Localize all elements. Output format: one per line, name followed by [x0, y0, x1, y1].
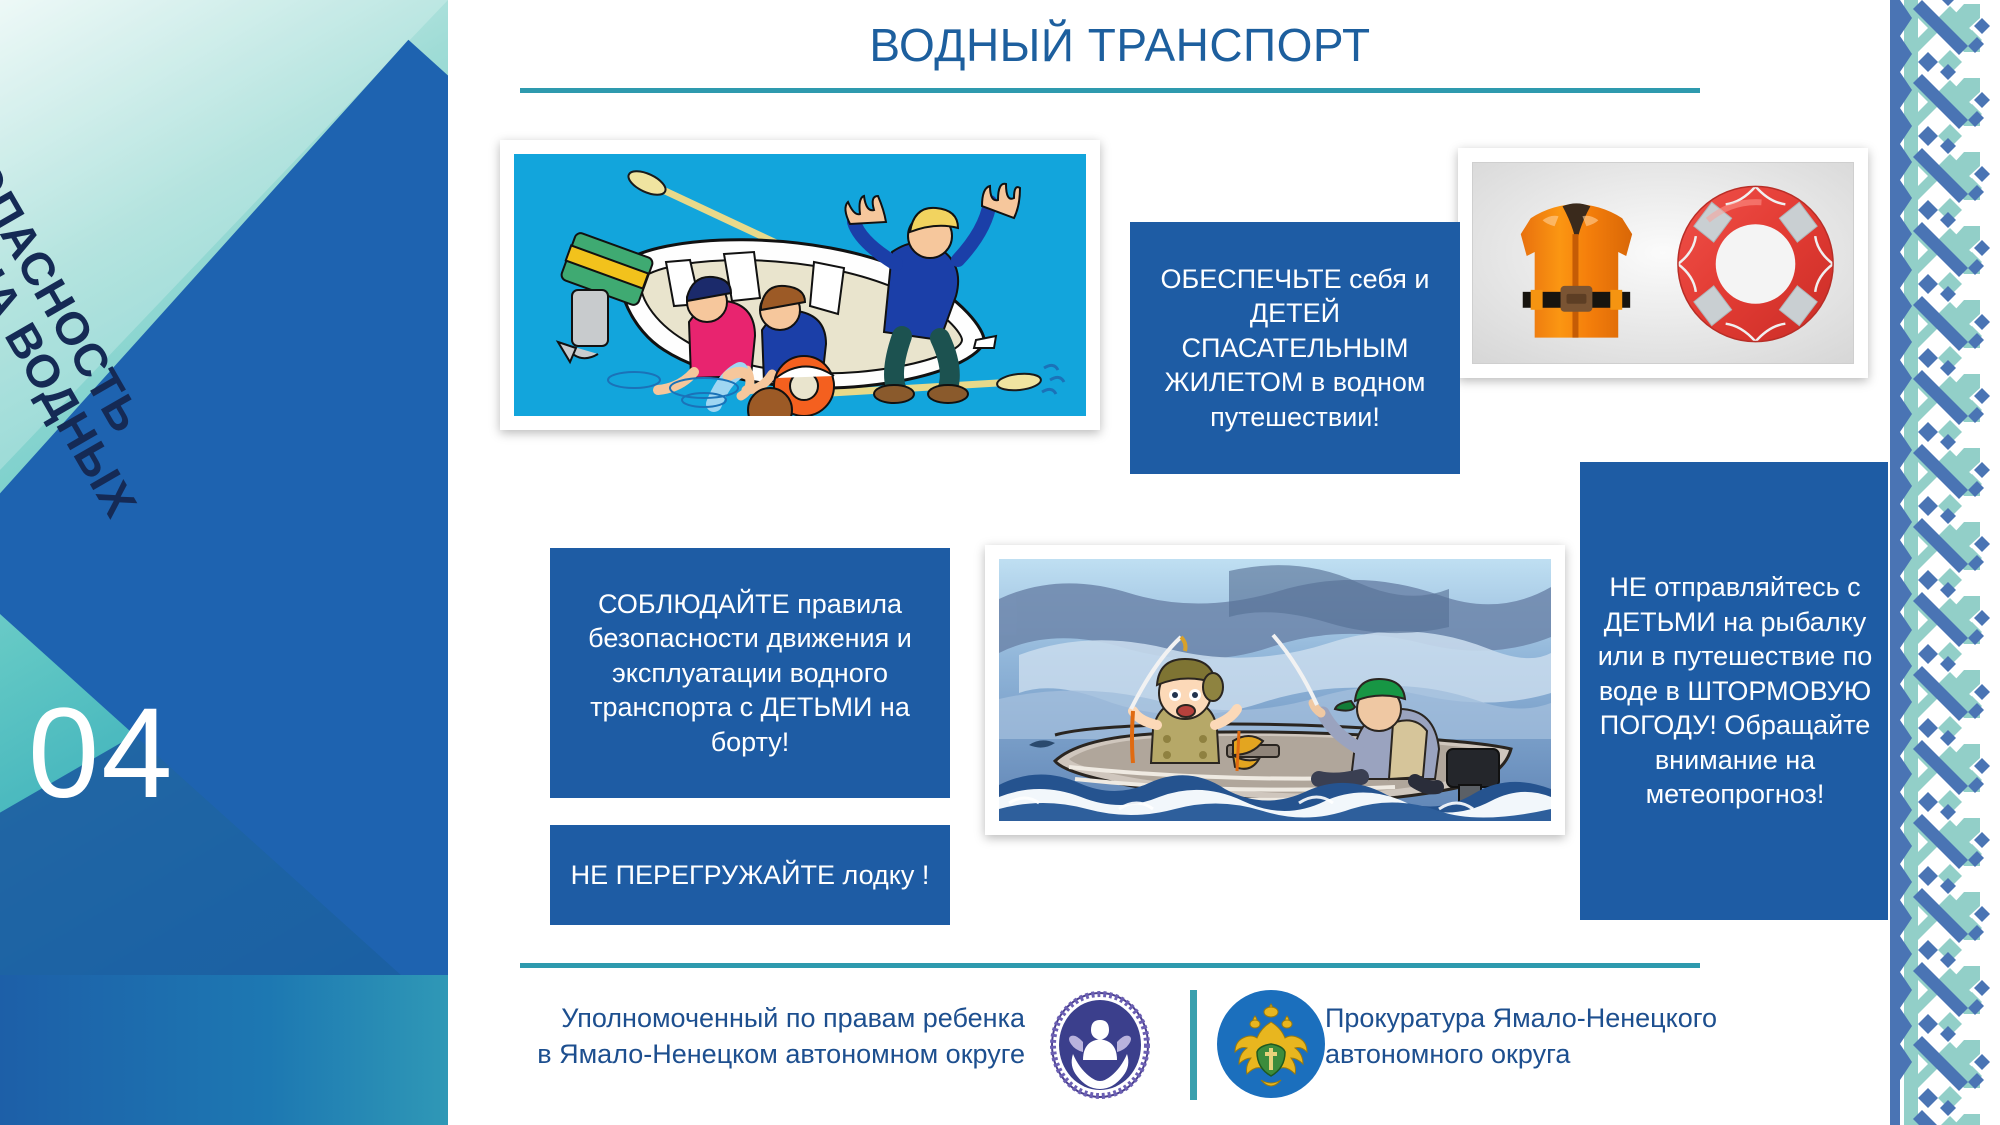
- callout-life-vest-text: ОБЕСПЕЧЬТЕ себя и ДЕТЕЙ СПАСАТЕЛЬНЫМ ЖИЛ…: [1142, 262, 1448, 435]
- sidebar-bottom-band: [0, 975, 448, 1125]
- callout-safety-rules: СОБЛЮДАЙТЕ правила безопасности движения…: [550, 548, 950, 798]
- nenets-ornament-icon: [1888, 0, 2000, 1125]
- sidebar: БЕЗОПАСНОСТЬ ДЕТЕЙ НА ВОДНЫХ ОБЪЕКТАХ 04: [0, 0, 448, 1125]
- footer-ombudsman-line-1: Уполномоченный по правам ребенка: [505, 1000, 1025, 1036]
- boat-illustration-frame: [500, 140, 1100, 430]
- callout-do-not-overload: НЕ ПЕРЕГРУЖАЙТЕ лодку !: [550, 825, 950, 925]
- footer-divider: [520, 963, 1700, 968]
- life-vest-photo-frame: [1458, 148, 1868, 378]
- slide-number: 04: [28, 690, 174, 818]
- ornament-border: [1888, 0, 2000, 1125]
- header-divider: [520, 88, 1700, 93]
- footer-vertical-divider: [1190, 990, 1197, 1100]
- boat-illustration: [514, 154, 1086, 416]
- ombudsman-emblem-icon: [1045, 990, 1155, 1100]
- fishing-photo: [999, 559, 1551, 821]
- footer-prosecutor-line-2: автономного округа: [1325, 1036, 1845, 1072]
- callout-storm-warning: НЕ отправляйтесь с ДЕТЬМИ на рыбалку или…: [1580, 462, 1890, 920]
- life-vest-photo: [1472, 162, 1854, 364]
- capsizing-boat-icon: [514, 154, 1086, 416]
- footer-prosecutor-line-1: Прокуратура Ямало-Ненецкого: [1325, 1000, 1845, 1036]
- footer-prosecutor-text: Прокуратура Ямало-Ненецкого автономного …: [1325, 1000, 1845, 1073]
- life-jacket-and-lifebuoy-icon: [1473, 163, 1853, 363]
- footer-ombudsman-line-2: в Ямало-Ненецком автономном округе: [505, 1036, 1025, 1072]
- fishing-photo-frame: [985, 545, 1565, 835]
- prosecutor-emblem-icon: [1215, 988, 1327, 1100]
- callout-life-vest: ОБЕСПЕЧЬТЕ себя и ДЕТЕЙ СПАСАТЕЛЬНЫМ ЖИЛ…: [1130, 222, 1460, 474]
- callout-safety-rules-text: СОБЛЮДАЙТЕ правила безопасности движения…: [562, 587, 938, 760]
- callout-do-not-overload-text: НЕ ПЕРЕГРУЖАЙТЕ лодку !: [562, 858, 938, 893]
- slide-root: БЕЗОПАСНОСТЬ ДЕТЕЙ НА ВОДНЫХ ОБЪЕКТАХ 04…: [0, 0, 2000, 1125]
- page-title: ВОДНЫЙ ТРАНСПОРТ: [500, 18, 1740, 72]
- fishermen-in-stormy-sea-icon: [999, 559, 1551, 821]
- callout-storm-warning-text: НЕ отправляйтесь с ДЕТЬМИ на рыбалку или…: [1592, 570, 1878, 812]
- footer-ombudsman-text: Уполномоченный по правам ребенка в Ямало…: [505, 1000, 1025, 1073]
